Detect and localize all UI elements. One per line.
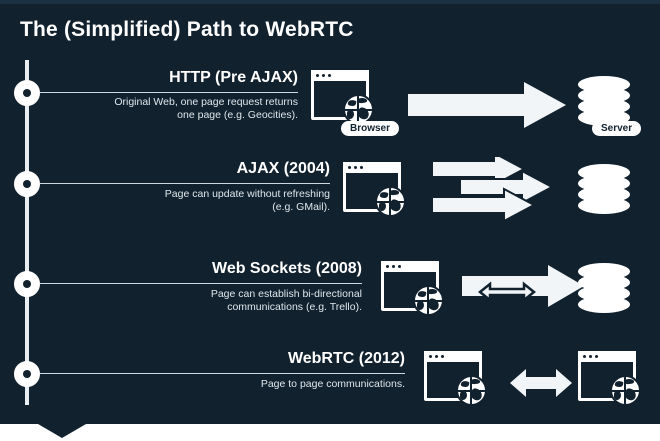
browser-window-icon-webrtc-left	[424, 351, 482, 401]
browser-label-http: Browser	[341, 121, 399, 136]
arrow-group-ajax-icon	[432, 157, 572, 223]
browser-dot-icon	[583, 355, 586, 358]
arrow-right-http-icon	[408, 82, 568, 128]
browser-window-icon-ajax	[343, 162, 401, 212]
browser-dot-icon	[386, 265, 389, 268]
top-accent-bar	[0, 0, 660, 4]
step-description-websockets: Page can establish bi-directional commun…	[40, 288, 362, 314]
browser-window-icon-webrtc-right	[578, 351, 636, 401]
step-description-ajax-line1: Page can update without refreshing	[165, 188, 330, 200]
divider-http	[40, 92, 298, 93]
server-database-icon-ajax	[578, 164, 630, 218]
globe-icon	[456, 375, 487, 406]
db-disc	[578, 164, 630, 181]
db-disc	[578, 263, 630, 280]
browser-dot-icon	[354, 166, 357, 169]
browser-titlebar	[578, 351, 636, 362]
step-heading-ajax: AJAX (2004)	[0, 160, 330, 178]
server-database-icon-websockets	[578, 263, 630, 317]
infographic-canvas: The (Simplified) Path to WebRTC HTTP (Pr…	[0, 0, 660, 441]
step-description-webrtc-line1: Page to page communications.	[261, 378, 405, 390]
globe-icon	[413, 285, 444, 316]
browser-dot-icon	[589, 355, 592, 358]
browser-titlebar	[424, 351, 482, 362]
step-description-websockets-line2: communications (e.g. Trello).	[227, 301, 362, 313]
step-description-webrtc: Page to page communications.	[40, 378, 405, 391]
browser-dot-icon	[348, 166, 351, 169]
step-heading-http: HTTP (Pre AJAX)	[0, 69, 298, 87]
browser-dot-icon	[595, 355, 598, 358]
browser-window-icon-websockets	[381, 261, 439, 311]
step-description-ajax: Page can update without refreshing (e.g.…	[40, 188, 330, 214]
browser-dot-icon	[435, 355, 438, 358]
globe-icon	[375, 186, 406, 217]
step-description-ajax-line2: (e.g. GMail).	[272, 201, 330, 213]
browser-dot-icon	[316, 74, 319, 77]
globe-icon	[610, 375, 641, 406]
arrow-bidirectional-websockets-icon	[462, 264, 590, 320]
browser-window-icon-http	[311, 70, 369, 120]
browser-dot-icon	[392, 265, 395, 268]
divider-websockets	[40, 283, 362, 284]
browser-dot-icon	[322, 74, 325, 77]
browser-titlebar	[343, 162, 401, 173]
step-description-websockets-line1: Page can establish bi-directional	[211, 288, 362, 300]
browser-titlebar	[311, 70, 369, 81]
step-description-http: Original Web, one page request returns o…	[40, 96, 298, 122]
divider-ajax	[40, 183, 330, 184]
step-description-http-line2: one page (e.g. Geocities).	[177, 109, 298, 121]
browser-dot-icon	[429, 355, 432, 358]
db-disc	[578, 76, 630, 93]
step-heading-websockets: Web Sockets (2008)	[0, 260, 362, 278]
divider-webrtc	[40, 373, 405, 374]
browser-dot-icon	[441, 355, 444, 358]
bottom-triangle-notch-icon	[38, 424, 86, 438]
browser-dot-icon	[328, 74, 331, 77]
browser-dot-icon	[398, 265, 401, 268]
browser-dot-icon	[360, 166, 363, 169]
page-title: The (Simplified) Path to WebRTC	[20, 18, 354, 42]
step-heading-webrtc: WebRTC (2012)	[0, 350, 405, 368]
browser-titlebar	[381, 261, 439, 272]
arrow-bidirectional-webrtc-icon	[510, 365, 572, 401]
server-label-http: Server	[592, 121, 641, 136]
step-description-http-line1: Original Web, one page request returns	[114, 96, 298, 108]
